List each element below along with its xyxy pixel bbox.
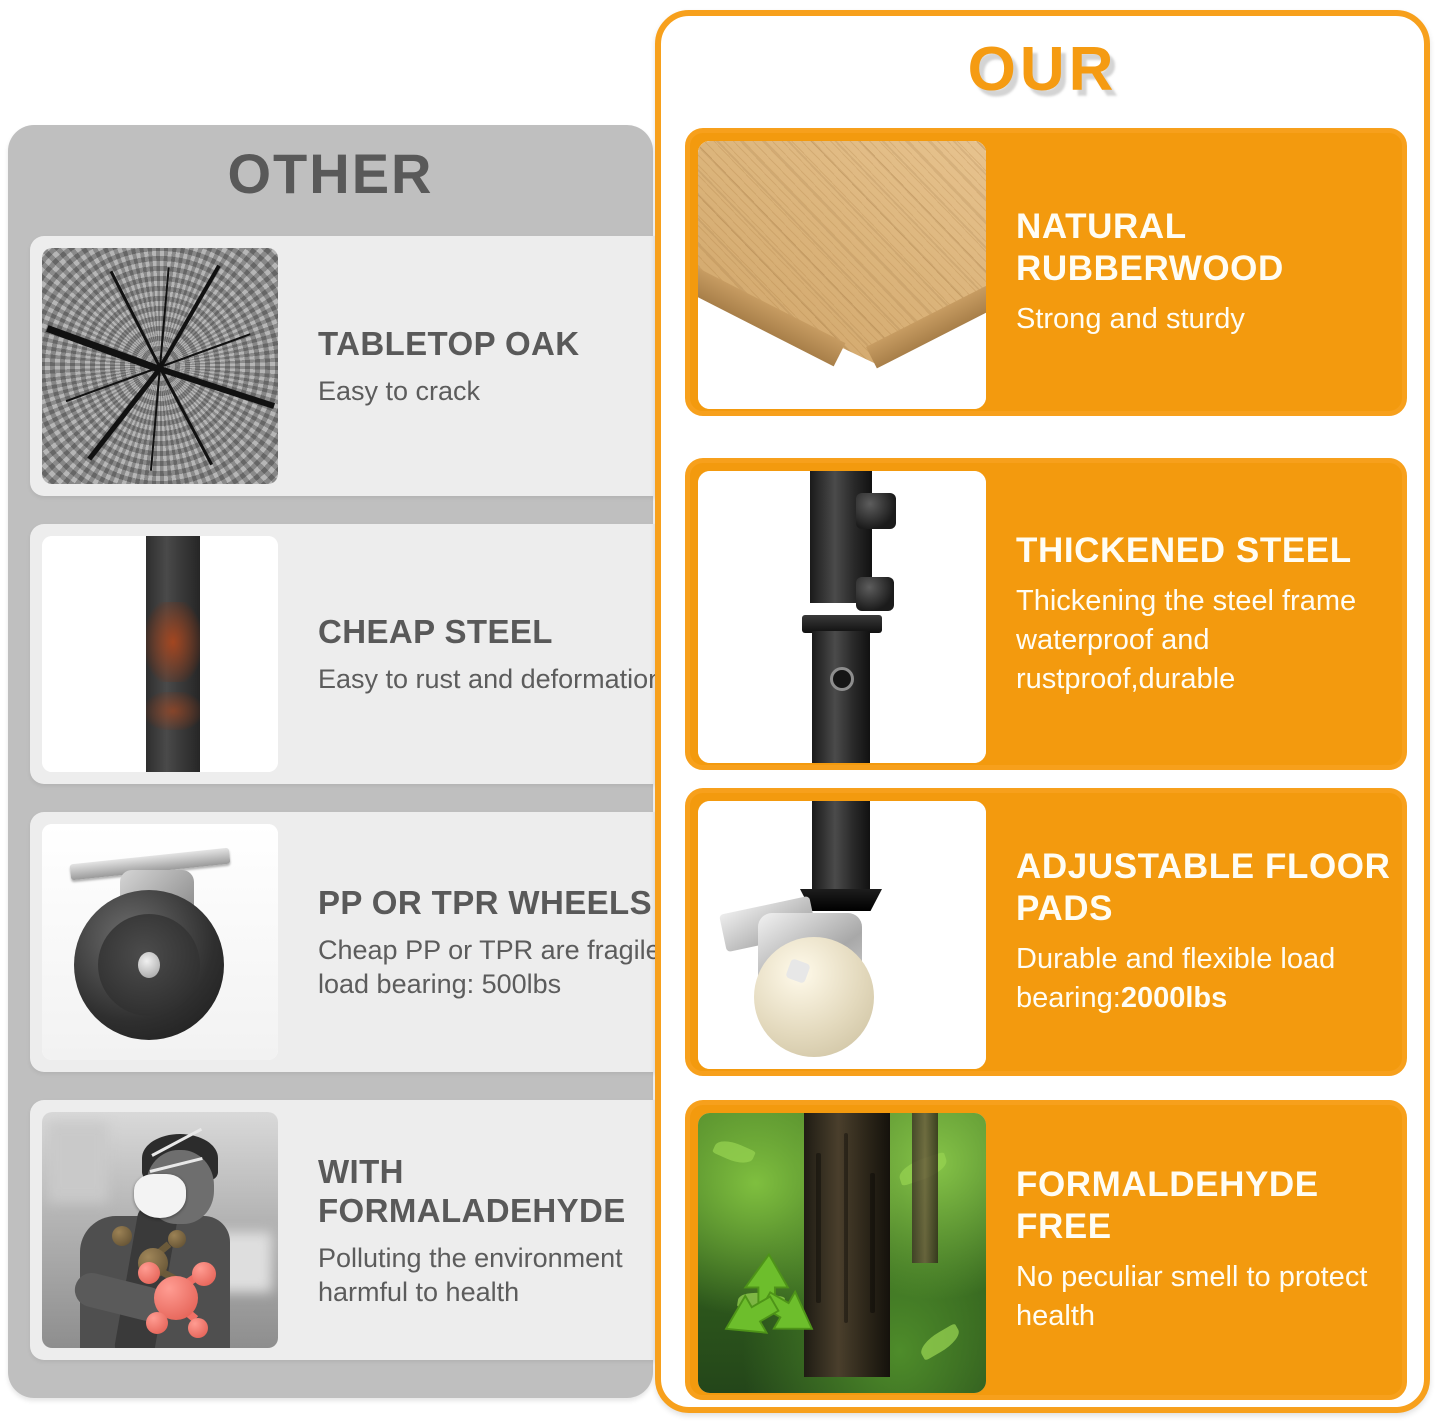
- our-feature-card-thickened-steel: THICKENED STEEL Thickening the steel fra…: [685, 458, 1407, 770]
- our-card-text: ADJUSTABLE FLOOR PADS Durable and flexib…: [1016, 793, 1404, 1071]
- our-card-text: NATURAL RUBBERWOOD Strong and sturdy: [1016, 133, 1396, 411]
- our-card-subtitle: No peculiar smell to protect health: [1016, 1258, 1404, 1336]
- other-heading: OTHER: [8, 139, 653, 209]
- our-card-text: FORMALDEHYDE FREE No peculiar smell to p…: [1016, 1105, 1404, 1395]
- our-feature-card-floor-pads: ADJUSTABLE FLOOR PADS Durable and flexib…: [685, 788, 1407, 1076]
- rusty-steel-bar-image: [42, 536, 278, 772]
- our-card-subtitle: Durable and flexible load bearing:2000lb…: [1016, 940, 1404, 1018]
- our-heading: OUR: [661, 32, 1424, 108]
- steel-tube-leg-image: [698, 471, 986, 763]
- our-card-title: ADJUSTABLE FLOOR PADS: [1016, 846, 1404, 930]
- our-feature-card-formaldehyde-free: FORMALDEHYDE FREE No peculiar smell to p…: [685, 1100, 1407, 1400]
- rubberwood-tabletop-image: [698, 141, 986, 409]
- cracked-oak-log-image: [42, 248, 278, 484]
- chrome-caster-image: [698, 801, 986, 1069]
- our-card-subtitle: Thickening the steel frame waterproof an…: [1016, 582, 1404, 699]
- other-feature-card-formaldehyde: WITH FORMALADEHYDE Polluting the environ…: [30, 1100, 730, 1360]
- worker-with-mask-image: [42, 1112, 278, 1348]
- forest-recycle-image: [698, 1113, 986, 1393]
- our-card-subtitle: Strong and sturdy: [1016, 300, 1396, 339]
- our-feature-card-rubberwood: NATURAL RUBBERWOOD Strong and sturdy: [685, 128, 1407, 416]
- our-card-title: NATURAL RUBBERWOOD: [1016, 206, 1396, 290]
- other-feature-card-tabletop-oak: TABLETOP OAK Easy to crack: [30, 236, 730, 496]
- recycle-icon: [710, 1245, 828, 1363]
- our-card-text: THICKENED STEEL Thickening the steel fra…: [1016, 463, 1404, 765]
- our-comparison-panel: OUR NATURAL RUBBERWOOD Strong and sturdy…: [655, 10, 1430, 1413]
- black-caster-wheel-image: [42, 824, 278, 1060]
- our-card-title: THICKENED STEEL: [1016, 530, 1404, 572]
- other-feature-card-wheels: PP OR TPR WHEELS Cheap PP or TPR are fra…: [30, 812, 730, 1072]
- other-comparison-panel: OTHER TABLETOP OAK Easy to crack: [8, 125, 653, 1398]
- other-feature-card-cheap-steel: CHEAP STEEL Easy to rust and deformation: [30, 524, 730, 784]
- our-card-title: FORMALDEHYDE FREE: [1016, 1164, 1404, 1248]
